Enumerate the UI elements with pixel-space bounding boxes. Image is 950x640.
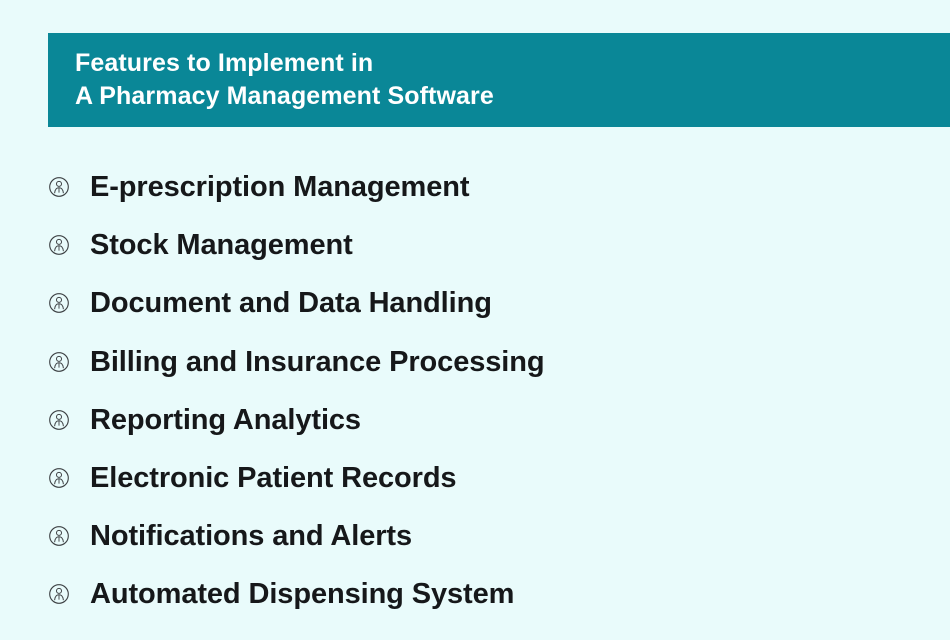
- list-item: Document and Data Handling: [48, 274, 950, 332]
- list-item: Notifications and Alerts: [48, 507, 950, 565]
- list-item-label: Billing and Insurance Processing: [90, 345, 544, 379]
- feature-list: E-prescription Management Stock Manageme…: [48, 158, 950, 624]
- user-circle-icon: [48, 292, 70, 314]
- user-circle-icon: [48, 583, 70, 605]
- list-item: Electronic Patient Records: [48, 449, 950, 507]
- user-circle-icon: [48, 525, 70, 547]
- list-item-label: Notifications and Alerts: [90, 519, 412, 553]
- list-item-label: Electronic Patient Records: [90, 461, 456, 495]
- list-item: E-prescription Management: [48, 158, 950, 216]
- list-item: Automated Dispensing System: [48, 565, 950, 623]
- header-banner: Features to Implement in A Pharmacy Mana…: [48, 33, 950, 127]
- infographic-slide: Features to Implement in A Pharmacy Mana…: [0, 0, 950, 640]
- user-circle-icon: [48, 234, 70, 256]
- user-circle-icon: [48, 351, 70, 373]
- user-circle-icon: [48, 467, 70, 489]
- list-item: Reporting Analytics: [48, 391, 950, 449]
- user-circle-icon: [48, 176, 70, 198]
- list-item: Stock Management: [48, 216, 950, 274]
- list-item-label: Document and Data Handling: [90, 286, 492, 320]
- header-title-line-1: Features to Implement in: [75, 47, 950, 80]
- list-item-label: Stock Management: [90, 228, 353, 262]
- list-item-label: Reporting Analytics: [90, 403, 361, 437]
- list-item-label: E-prescription Management: [90, 170, 469, 204]
- user-circle-icon: [48, 409, 70, 431]
- list-item-label: Automated Dispensing System: [90, 577, 514, 611]
- list-item: Billing and Insurance Processing: [48, 333, 950, 391]
- header-title-line-2: A Pharmacy Management Software: [75, 80, 950, 113]
